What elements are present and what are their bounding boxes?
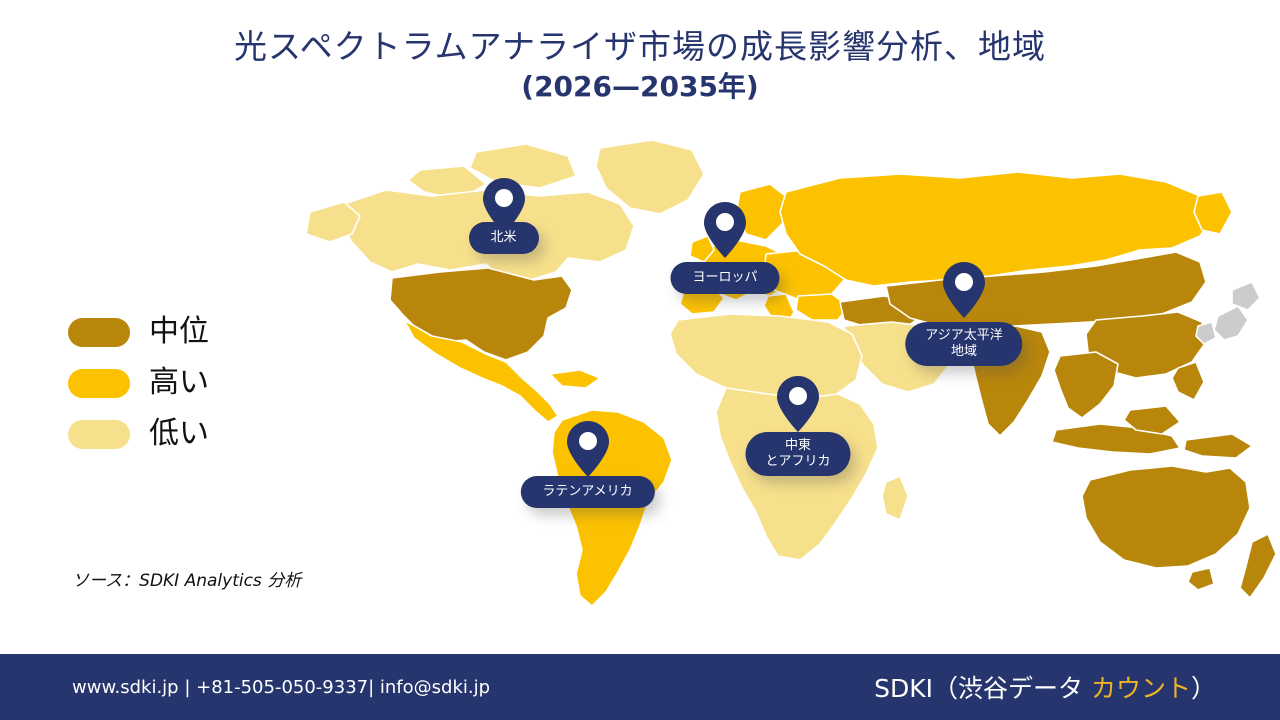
pin-text-asia-pacific-1: 地域 [925,344,1002,360]
region-new-guinea [1184,434,1252,458]
legend-item-medium: 中位 [68,308,209,356]
map-pin-label-asia-pacific: アジア太平洋 地域 [905,322,1022,366]
footer-contact[interactable]: www.sdki.jp | +81-505-050-9337| info@sdk… [72,677,490,698]
pin-text-asia-pacific-0: アジア太平洋 [925,328,1002,344]
region-united-states [390,268,572,360]
legend-label-low: 低い [149,419,209,449]
legend: 中位 高い 低い [68,308,209,461]
pin-text-middle-east-africa-1: とアフリカ [765,454,830,470]
brand-accent: カウント [1091,674,1191,703]
source-note: ソース：SDKI Analytics 分析 [72,566,301,591]
pin-text-europe-0: ヨーロッパ [692,270,757,285]
region-madagascar [882,476,908,520]
legend-label-medium: 中位 [149,317,209,347]
location-pin-icon [777,376,819,432]
pin-text-north-america-0: 北米 [490,230,516,245]
map-pin-label-middle-east-africa: 中東 とアフリカ [745,432,850,476]
legend-swatch-high [68,369,130,398]
legend-swatch-low [68,420,130,449]
pin-text-middle-east-africa-0: 中東 [765,438,830,454]
title-line-1: 光スペクトラムアナライザ市場の成長影響分析、地域 [0,26,1280,68]
location-pin-icon [704,202,746,258]
map-pin-label-europe: ヨーロッパ [670,262,779,294]
brand-prefix: SDKI（渋谷データ [874,674,1091,703]
footer-brand: SDKI（渋谷データ カウント） [874,669,1216,705]
title-line-2: (2026—2035年) [0,68,1280,106]
location-pin-icon [943,262,985,318]
region-north-africa [670,314,862,400]
map-pin-label-latin-america: ラテンアメリカ [520,476,654,508]
region-tasmania [1188,568,1214,590]
brand-suffix: ） [1191,674,1216,703]
footer-bar: www.sdki.jp | +81-505-050-9337| info@sdk… [0,654,1280,720]
infographic-canvas: 光スペクトラムアナライザ市場の成長影響分析、地域 (2026—2035年) 中位… [0,0,1280,720]
region-indochina [1054,352,1118,418]
region-balkans [796,294,848,320]
region-caribbean [550,370,600,388]
legend-item-high: 高い [68,359,209,407]
legend-item-low: 低い [68,410,209,458]
region-new-zealand [1240,534,1276,598]
legend-swatch-medium [68,318,130,347]
legend-label-high: 高い [149,368,209,398]
region-japan [1214,306,1248,340]
page-title: 光スペクトラムアナライザ市場の成長影響分析、地域 (2026—2035年) [0,26,1280,106]
pin-text-latin-america-0: ラテンアメリカ [542,484,632,499]
region-japan-north [1232,282,1260,310]
location-pin-icon [567,421,609,477]
region-australia [1082,466,1250,568]
map-pin-label-north-america: 北米 [468,222,538,254]
